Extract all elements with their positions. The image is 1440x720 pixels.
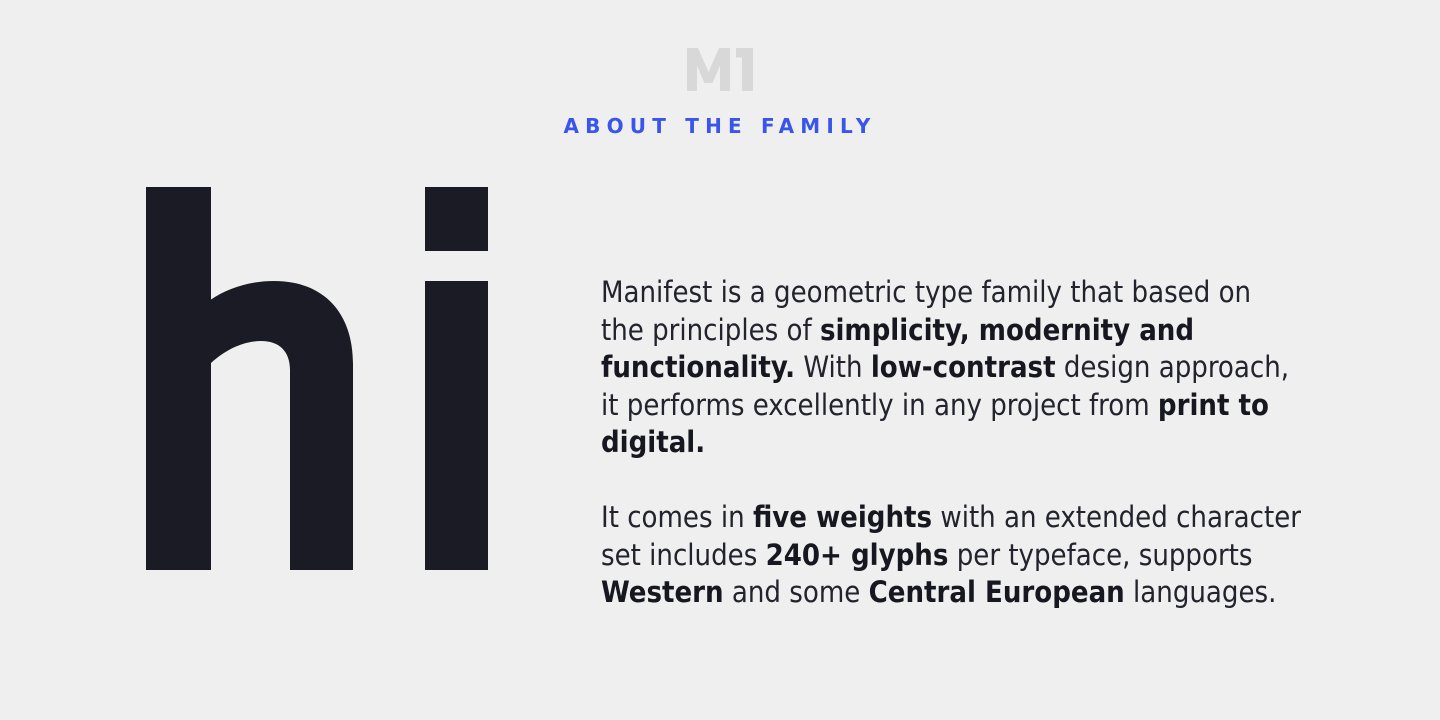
about-copy-block: Manifest is a geometric type family that… <box>601 274 1301 612</box>
letter-h-shape <box>146 187 353 570</box>
emphasis-run: Central European <box>869 575 1125 609</box>
letter-i-dot <box>425 187 488 251</box>
m1-logo-icon <box>687 48 753 91</box>
emphasis-run: Western <box>601 575 724 609</box>
paragraph-details: It comes in five weights with an extende… <box>601 499 1301 612</box>
emphasis-run: 240+ glyphs <box>766 538 949 572</box>
text-run: languages. <box>1125 575 1277 609</box>
paragraph-intro: Manifest is a geometric type family that… <box>601 274 1301 462</box>
text-run: With <box>795 350 871 384</box>
specimen-page: M1 ABOUT THE FAMILY hi Manifest is a geo… <box>0 0 1440 720</box>
text-run: per typeface, supports <box>948 538 1252 572</box>
emphasis-run: five weights <box>753 500 932 534</box>
hi-lettering-icon <box>146 187 488 570</box>
text-run: and some <box>724 575 869 609</box>
hero-lettering-hi: hi <box>146 187 488 570</box>
text-run: It comes in <box>601 500 753 534</box>
letter-i-stem <box>425 281 488 570</box>
eyebrow-about-the-family: ABOUT THE FAMILY <box>0 114 1440 138</box>
emphasis-run: low-contrast <box>871 350 1056 384</box>
brand-logo-m1: M1 <box>0 48 1440 100</box>
